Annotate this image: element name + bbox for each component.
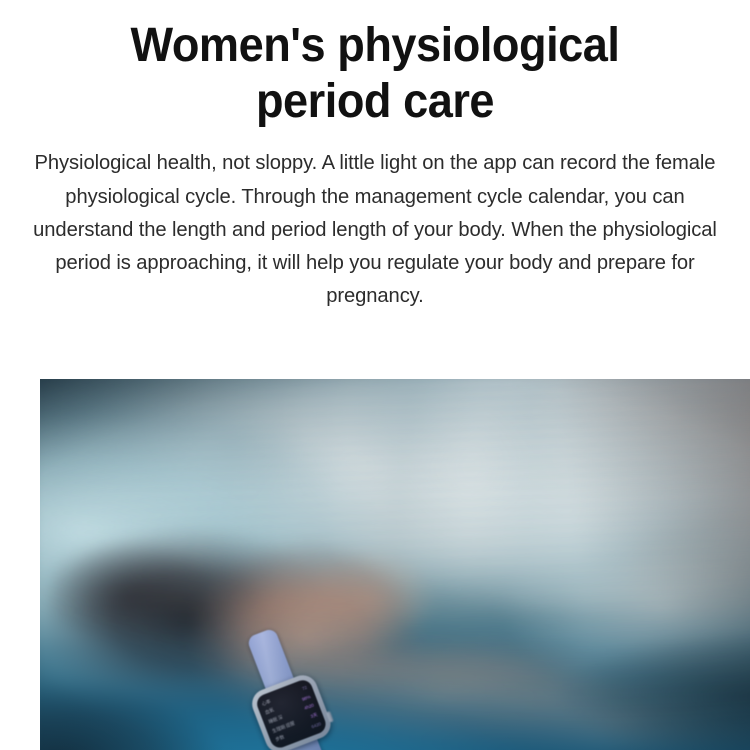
lifestyle-photo: 心率 72 血氧 98% 睡眠 深 4h20 生理期 提醒 3天	[40, 379, 750, 750]
page-title: Women's physiological period care	[23, 0, 728, 130]
intro-text-section: Women's physiological period care Physio…	[0, 0, 750, 363]
page-root: Women's physiological period care Physio…	[0, 0, 750, 750]
description-paragraph: Physiological health, not sloppy. A litt…	[6, 130, 745, 312]
color-grade-layer	[40, 379, 750, 750]
